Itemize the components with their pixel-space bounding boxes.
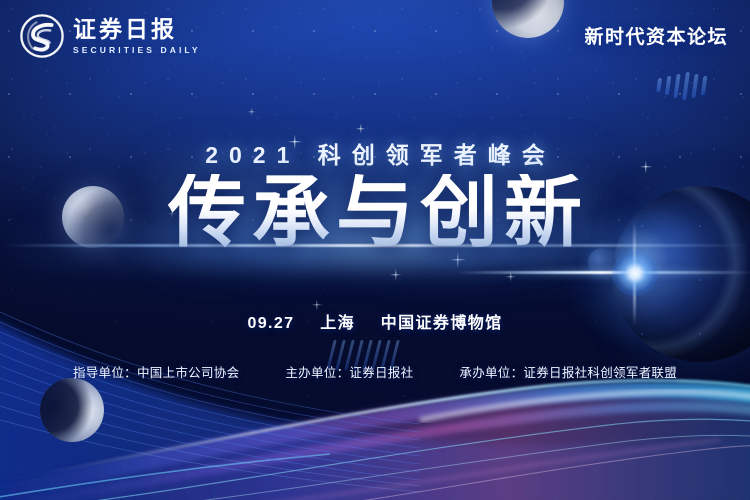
brand-text: 证券日报 SECURITIES DAILY: [73, 18, 201, 55]
brand-name-en: SECURITIES DAILY: [73, 46, 201, 55]
organizer-list: 指导单位：中国上市公司协会 主办单位：证券日报社 承办单位：证券日报社科创领军者…: [0, 362, 750, 381]
organizer-role: 承办单位：: [459, 366, 523, 380]
brand-logo[interactable]: 证券日报 SECURITIES DAILY: [20, 14, 201, 58]
organizer-item: 指导单位：中国上市公司协会: [73, 362, 239, 381]
organizer-item: 承办单位：证券日报社科创领军者联盟: [459, 362, 677, 381]
organizer-role: 主办单位：: [285, 366, 349, 380]
event-kicker: 2021 科创领军者峰会: [0, 136, 750, 170]
organizer-role: 指导单位：: [73, 366, 137, 380]
event-date: 09.27: [247, 315, 294, 332]
securities-daily-swirl-logo-icon: [20, 14, 64, 58]
event-meta: 09.27 上海 中国证券博物馆: [0, 309, 750, 333]
organizer-name: 中国上市公司协会: [137, 366, 239, 380]
event-poster: 证券日报 SECURITIES DAILY 新时代资本论坛 2021 科创领军者…: [0, 0, 750, 500]
event-headline: 传承与创新: [0, 174, 750, 252]
organizer-item: 主办单位：证券日报社: [285, 362, 413, 381]
organizer-name: 证券日报社科创领军者联盟: [523, 366, 677, 380]
forum-label: 新时代资本论坛: [584, 22, 728, 49]
event-venue: 中国证券博物馆: [381, 315, 503, 332]
brand-name-cn: 证券日报: [73, 18, 201, 41]
crescent-moon-bottom-left-icon: [40, 378, 104, 442]
event-city: 上海: [320, 315, 355, 332]
organizer-name: 证券日报社: [349, 366, 413, 380]
